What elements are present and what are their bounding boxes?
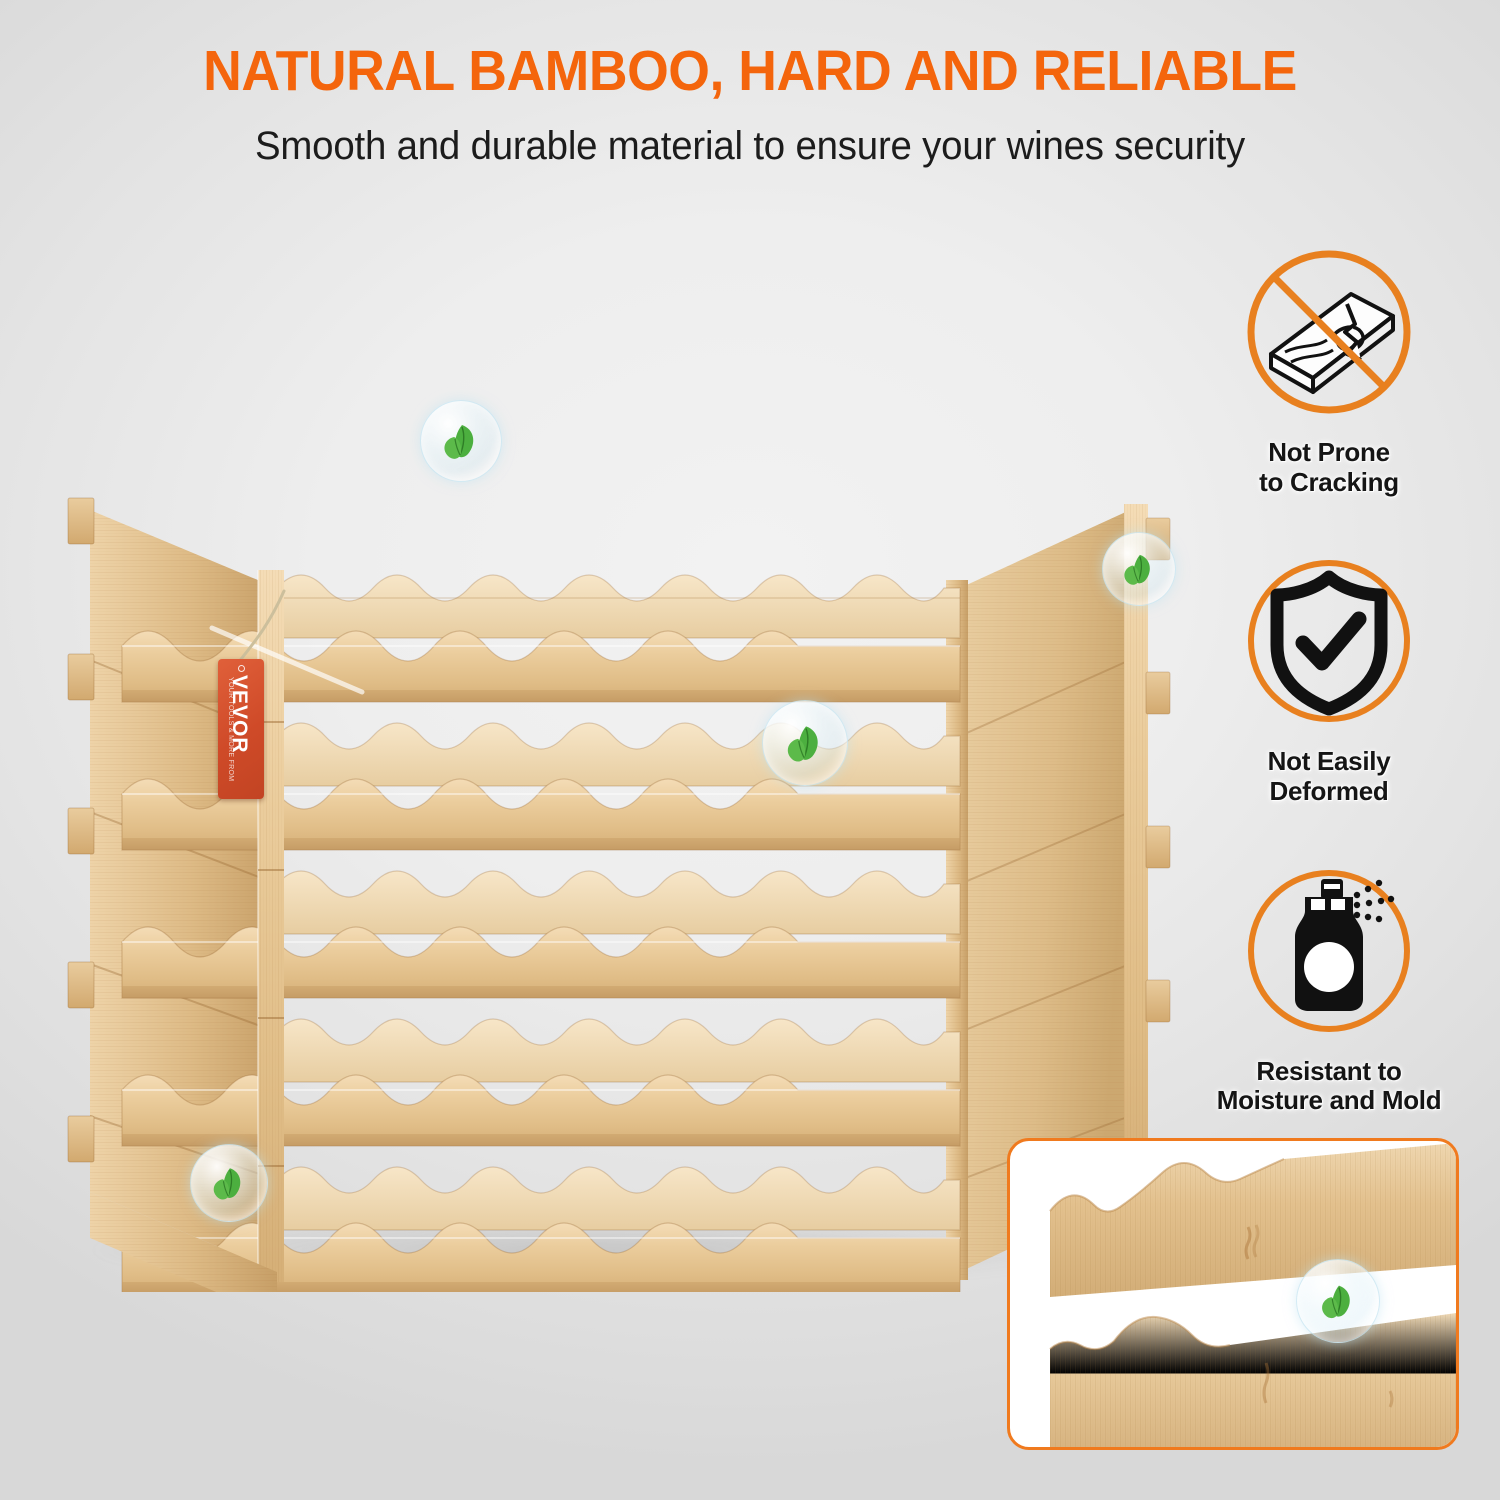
hang-tag-eyelet [238, 665, 245, 672]
closeup-upper-shelf [1050, 1143, 1456, 1297]
feature-not-easily-deformed: Not Easily Deformed [1194, 541, 1464, 806]
closeup-illustration [1010, 1141, 1456, 1447]
vevor-hang-tag: VEVOR YOUR TOOLS & MORE FROM [218, 659, 264, 799]
feature-resistant-to-moisture-and-mold: Resistant to Moisture and Mold [1194, 851, 1464, 1116]
feature-list: Not Prone to Cracking Not Easily Deforme… [1194, 232, 1464, 1160]
feature-label: Not Easily Deformed [1194, 747, 1464, 806]
leaf-bubble-icon [435, 415, 487, 467]
shield-check-icon [1229, 541, 1429, 741]
leaf-badge-right [1102, 532, 1176, 606]
leaf-bubble-icon [1313, 1276, 1363, 1326]
tier-5-back-rail [277, 1167, 960, 1230]
leaf-bubble-icon [205, 1159, 253, 1207]
leaf-badge-inset [1296, 1259, 1380, 1343]
no-cracking-icon [1229, 232, 1429, 432]
tier-2-back-rail [277, 723, 960, 786]
leaf-badge-top [420, 400, 502, 482]
feature-label: Not Prone to Cracking [1194, 438, 1464, 497]
tier-4-back-rail [277, 1019, 960, 1082]
leaf-bubble-icon [1116, 546, 1162, 592]
feature-label: Resistant to Moisture and Mold [1194, 1057, 1464, 1116]
tier-1-back-rail [277, 575, 960, 638]
closeup-detail-panel [1007, 1138, 1459, 1450]
tier-3-front-rail [122, 927, 960, 998]
hang-tag-subtext: YOUR TOOLS & MORE FROM [227, 677, 234, 781]
feature-not-prone-to-cracking: Not Prone to Cracking [1194, 232, 1464, 497]
leaf-bubble-icon [778, 716, 832, 770]
tier-3-back-rail [277, 871, 960, 934]
leaf-badge-bottom-left [190, 1144, 268, 1222]
vevor-hang-tag-group: VEVOR YOUR TOOLS & MORE FROM [192, 587, 312, 847]
leaf-badge-middle [762, 700, 848, 786]
right-outer-post [1124, 504, 1170, 1204]
closeup-lower-shelf [1050, 1313, 1456, 1447]
tier-4-front-rail [122, 1075, 960, 1146]
spray-bottle-icon [1229, 851, 1429, 1051]
